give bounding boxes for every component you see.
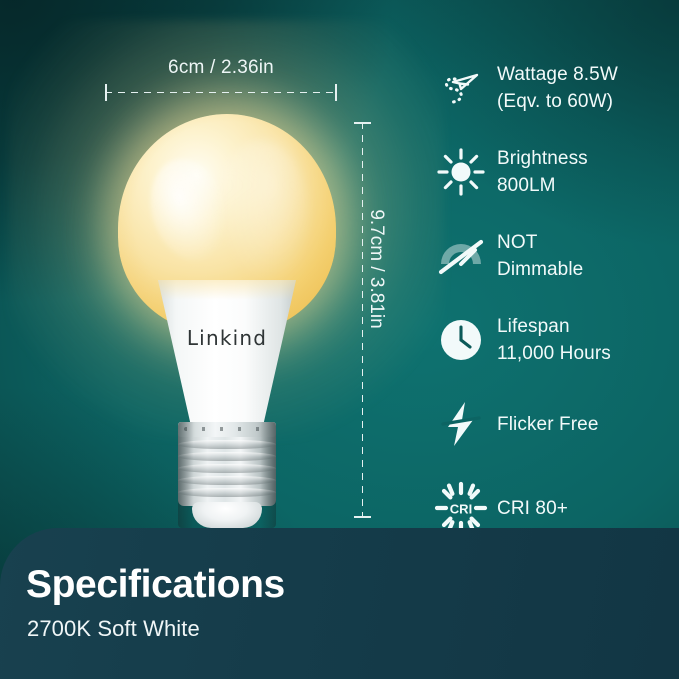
width-dimension-cap-left: [105, 84, 107, 101]
spec-label-wattage: Wattage 8.5W (Eqv. to 60W): [497, 61, 618, 115]
spec-row-brightness: Brightness 800LM: [432, 130, 672, 214]
spec-row-dimmable: NOT Dimmable: [432, 214, 672, 298]
spec-label-lifespan: Lifespan 11,000 Hours: [497, 313, 611, 367]
spec-label-cri: CRI 80+: [497, 495, 568, 522]
spec-row-wattage: Wattage 8.5W (Eqv. to 60W): [432, 46, 672, 130]
height-dimension-label: 9.7cm / 3.81in: [365, 209, 387, 329]
cri-icon-text: CRI: [450, 502, 472, 517]
width-dimension-line: [105, 92, 337, 93]
specifications-banner: Specifications 2700K Soft White: [0, 528, 679, 679]
brand-logo-text: Linkind: [152, 326, 302, 350]
spec-row-flicker: Flicker Free: [432, 382, 672, 466]
bulb-highlight-secondary: [214, 140, 310, 290]
clock-icon: [432, 311, 490, 369]
spec-label-flicker: Flicker Free: [497, 411, 599, 438]
spec-row-lifespan: Lifespan 11,000 Hours: [432, 298, 672, 382]
specifications-list: Wattage 8.5W (Eqv. to 60W): [432, 46, 672, 550]
brightness-sun-icon: [432, 143, 490, 201]
bulb-neck-light-spill: [152, 280, 302, 300]
banner-title: Specifications: [26, 563, 285, 607]
width-dimension-cap-right: [335, 84, 337, 101]
not-dimmable-icon: [432, 227, 490, 285]
led-bulb-image: Linkind: [104, 104, 348, 534]
height-dimension-cap-top: [354, 122, 371, 124]
height-dimension-line: [362, 122, 363, 518]
spec-label-brightness: Brightness 800LM: [497, 145, 588, 199]
width-dimension-label: 6cm / 2.36in: [105, 57, 337, 79]
lightning-bolt-icon: [432, 395, 490, 453]
banner-subtitle: 2700K Soft White: [27, 616, 200, 642]
spec-label-dimmable: NOT Dimmable: [497, 229, 583, 283]
base-insulator-tip: [192, 502, 262, 528]
height-dimension-cap-bottom: [354, 516, 371, 518]
product-spec-image: Linkind 6cm / 2.36in 9.7cm / 3.81in: [0, 0, 679, 679]
energy-efficiency-icon: [432, 59, 490, 117]
